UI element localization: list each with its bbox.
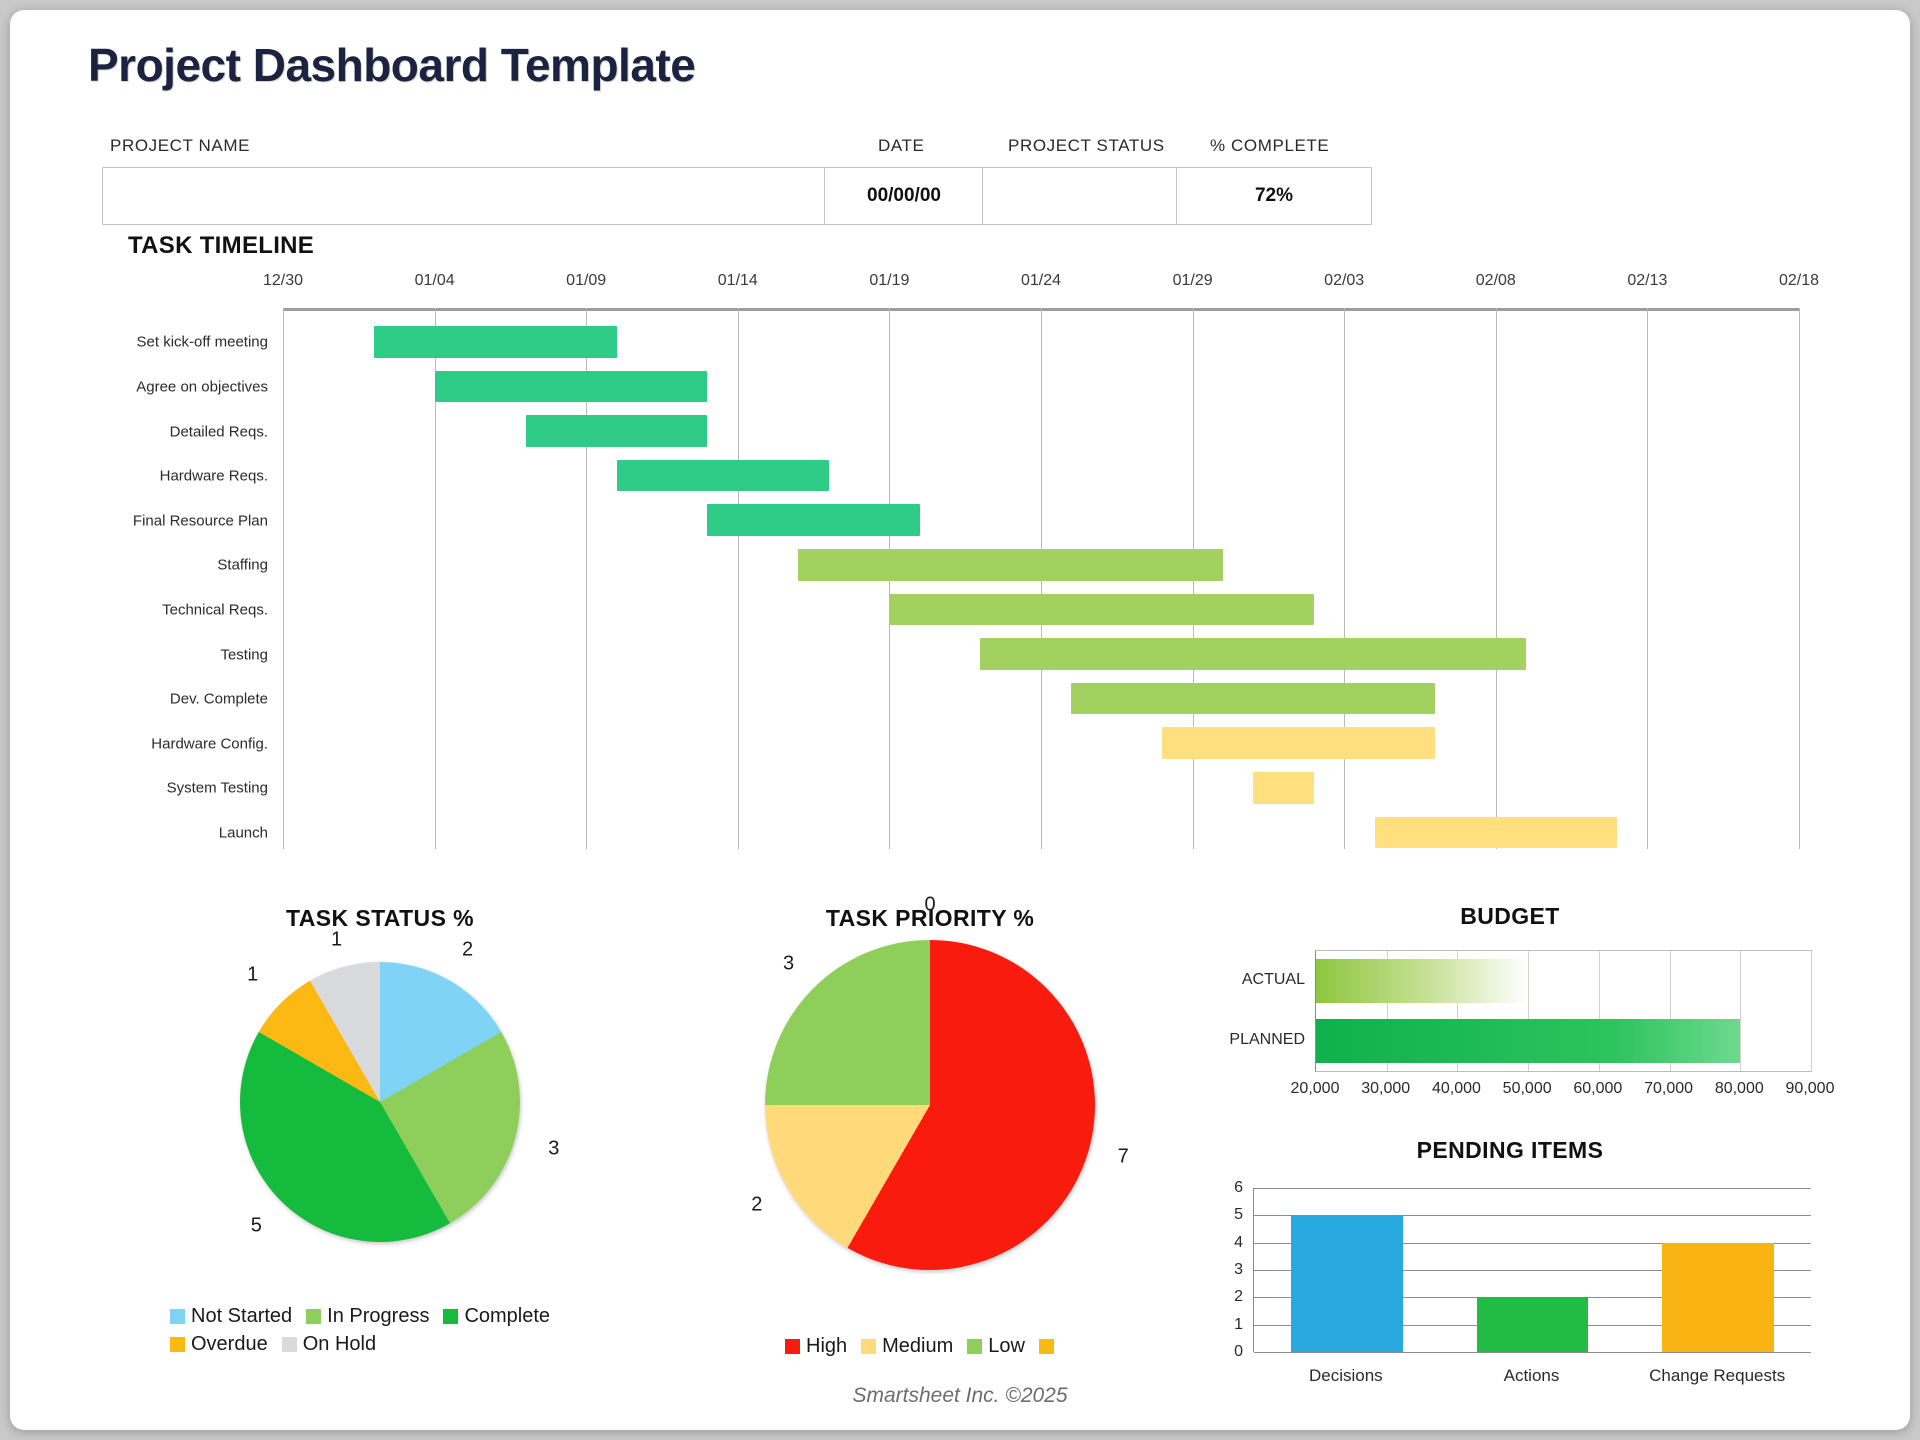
legend-swatch: [306, 1309, 321, 1324]
pie-slices: [240, 962, 520, 1242]
budget-bar: [1316, 959, 1528, 1003]
legend-swatch: [1039, 1339, 1054, 1354]
pending-category-label: Decisions: [1309, 1366, 1383, 1386]
pending-ytick-label: 3: [1234, 1261, 1243, 1279]
gantt-task-label: Final Resource Plan: [10, 512, 268, 529]
budget-tick-label: 90,000: [1786, 1080, 1835, 1098]
pie-data-label: 1: [247, 963, 258, 986]
gantt-task-label: Launch: [10, 824, 268, 841]
gantt-bar: [1375, 817, 1618, 849]
gantt-tick-label: 01/24: [1021, 272, 1061, 290]
gantt-gridline: [738, 308, 739, 849]
legend-item: Overdue: [170, 1333, 268, 1356]
gantt-bar: [798, 549, 1222, 581]
gantt-bar: [889, 594, 1313, 626]
gantt-tick-label: 01/09: [566, 272, 606, 290]
gantt-bar: [707, 504, 919, 536]
budget-category-label: PLANNED: [1165, 1031, 1305, 1049]
legend-item: Not Started: [170, 1305, 292, 1328]
gantt-task-label: Set kick-off meeting: [10, 334, 268, 351]
gantt-task-label: Detailed Reqs.: [10, 423, 268, 440]
legend-item: High: [785, 1335, 847, 1358]
pie-data-label: 1: [331, 928, 342, 951]
legend-swatch: [443, 1309, 458, 1324]
legend-item: In Progress: [306, 1305, 429, 1328]
pie-data-label: 7: [1118, 1145, 1129, 1168]
gantt-bar: [1253, 772, 1314, 804]
legend-swatch: [282, 1337, 297, 1352]
gantt-task-label: Hardware Config.: [10, 735, 268, 752]
legend-label: Low: [988, 1335, 1025, 1358]
pending-gridline: [1254, 1352, 1811, 1353]
task-status-title: TASK STATUS %: [160, 905, 600, 932]
pending-category-label: Change Requests: [1649, 1366, 1785, 1386]
legend-item: Complete: [443, 1305, 550, 1328]
chart-legend: Not StartedIn ProgressCompleteOverdueOn …: [170, 1305, 590, 1361]
legend-label: Medium: [882, 1335, 953, 1358]
gantt-tick-label: 01/29: [1173, 272, 1213, 290]
budget-tick-label: 50,000: [1503, 1080, 1552, 1098]
gantt-tick-label: 02/13: [1627, 272, 1667, 290]
gantt-gridline: [1799, 308, 1800, 849]
gantt-tick-label: 01/04: [415, 272, 455, 290]
pie-slices: [765, 940, 1095, 1270]
legend-label: On Hold: [303, 1333, 376, 1356]
pie-data-label: 2: [462, 939, 473, 962]
legend-item: [1039, 1335, 1060, 1358]
legend-label: High: [806, 1335, 847, 1358]
budget-gridline: [1811, 951, 1812, 1071]
dashboard-page: Project Dashboard Template PROJECT NAME …: [10, 10, 1910, 1430]
gantt-bar: [374, 326, 617, 358]
pending-category-label: Actions: [1504, 1366, 1560, 1386]
legend-label: In Progress: [327, 1305, 429, 1328]
budget-plot-area: [1315, 950, 1812, 1072]
budget-tick-label: 20,000: [1291, 1080, 1340, 1098]
gantt-tick-label: 02/08: [1476, 272, 1516, 290]
budget-tick-label: 60,000: [1573, 1080, 1622, 1098]
legend-item: Low: [967, 1335, 1025, 1358]
budget-tick-label: 80,000: [1715, 1080, 1764, 1098]
legend-swatch: [170, 1337, 185, 1352]
pending-bar: [1291, 1215, 1402, 1352]
legend-label: Complete: [464, 1305, 550, 1328]
gantt-task-label: Staffing: [10, 557, 268, 574]
legend-label: Overdue: [191, 1333, 268, 1356]
gantt-tick-label: 02/18: [1779, 272, 1819, 290]
budget-bar: [1316, 1019, 1740, 1063]
legend-swatch: [967, 1339, 982, 1354]
pie-data-label: 2: [751, 1194, 762, 1217]
gantt-gridline: [1496, 308, 1497, 849]
legend-swatch: [861, 1339, 876, 1354]
gantt-gridline: [1647, 308, 1648, 849]
gantt-bar: [1071, 683, 1435, 715]
gantt-tick-label: 02/03: [1324, 272, 1364, 290]
legend-swatch: [170, 1309, 185, 1324]
budget-title: BUDGET: [1250, 903, 1770, 930]
pending-bar: [1477, 1297, 1588, 1352]
gantt-task-label: Technical Reqs.: [10, 601, 268, 618]
footer-copyright: Smartsheet Inc. ©2025: [10, 1384, 1910, 1408]
gantt-task-label: System Testing: [10, 780, 268, 797]
budget-tick-label: 40,000: [1432, 1080, 1481, 1098]
gantt-gridline: [283, 308, 284, 849]
pending-ytick-label: 1: [1234, 1316, 1243, 1334]
gantt-gridline: [1344, 308, 1345, 849]
gantt-task-label: Testing: [10, 646, 268, 663]
task-timeline-gantt: 12/3001/0401/0901/1401/1901/2401/2902/03…: [10, 10, 1910, 650]
pending-plot-area: [1253, 1188, 1811, 1352]
gantt-bar: [980, 638, 1526, 670]
pending-items-title: PENDING ITEMS: [1250, 1137, 1770, 1164]
budget-tick-label: 70,000: [1644, 1080, 1693, 1098]
pending-ytick-label: 4: [1234, 1234, 1243, 1252]
chart-legend: HighMediumLow: [785, 1335, 1185, 1363]
pie-data-label: 3: [783, 952, 794, 975]
gantt-tick-label: 01/19: [869, 272, 909, 290]
pending-ytick-label: 6: [1234, 1179, 1243, 1197]
legend-label: Not Started: [191, 1305, 292, 1328]
gantt-task-label: Agree on objectives: [10, 378, 268, 395]
legend-item: Medium: [861, 1335, 953, 1358]
pending-gridline: [1254, 1188, 1811, 1189]
pie-data-label: 3: [548, 1137, 559, 1160]
gantt-bar: [617, 460, 829, 492]
budget-tick-label: 30,000: [1361, 1080, 1410, 1098]
legend-item: On Hold: [282, 1333, 376, 1356]
gantt-bar: [526, 415, 708, 447]
pending-ytick-label: 5: [1234, 1206, 1243, 1224]
pending-ytick-label: 0: [1234, 1343, 1243, 1361]
budget-category-label: ACTUAL: [1165, 971, 1305, 989]
gantt-tick-label: 12/30: [263, 272, 303, 290]
legend-swatch: [785, 1339, 800, 1354]
gantt-bar: [1162, 727, 1435, 759]
pending-ytick-label: 2: [1234, 1288, 1243, 1306]
gantt-task-label: Dev. Complete: [10, 691, 268, 708]
gantt-bar: [435, 371, 708, 403]
pending-bar: [1662, 1243, 1773, 1352]
budget-gridline: [1740, 951, 1741, 1071]
gantt-task-label: Hardware Reqs.: [10, 468, 268, 485]
gantt-tick-label: 01/14: [718, 272, 758, 290]
pie-data-label: 0: [924, 894, 935, 917]
pie-data-label: 5: [251, 1214, 262, 1237]
